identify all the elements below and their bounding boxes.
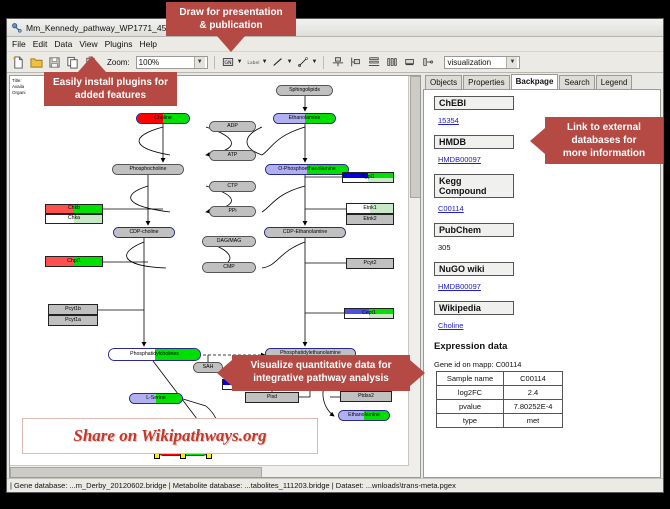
datanode-icon[interactable]: GN [221, 55, 236, 70]
node-label: CDP-choline [129, 230, 158, 235]
gene-node-pcyt1b[interactable]: Pcyt1b [48, 304, 98, 315]
metabolite-node-ethanolamine-right[interactable]: Ethanolamine [338, 410, 390, 421]
callout-plugins-line2: added features [50, 89, 171, 102]
gene-node-chka[interactable]: Chka [45, 214, 103, 224]
distribute-icon[interactable] [384, 55, 399, 70]
metabolite-node-adp[interactable]: ADP [209, 121, 256, 132]
node-label: SAH [203, 365, 214, 370]
side-panel-tabs: Objects Properties Backpage Search Legen… [423, 75, 661, 89]
node-label: PPi [228, 209, 236, 214]
node-label: L-Serine [146, 396, 166, 401]
expression-data-header: Expression data [434, 341, 652, 352]
group-icon[interactable] [402, 55, 417, 70]
menu-item-data[interactable]: Data [54, 39, 72, 49]
metabolite-node-sphingolipids[interactable]: Sphingolipids [276, 85, 333, 96]
stack-icon[interactable] [366, 55, 381, 70]
node-label: Chpt1 [67, 259, 81, 264]
node-label: O-Phosphoethanolamine [278, 167, 335, 172]
callout-draw-line2: & publication [172, 19, 290, 32]
tab-search[interactable]: Search [559, 75, 594, 89]
gene-node-ptdss2[interactable]: Ptdss2 [340, 391, 392, 402]
metabolite-node-cdp-ethanolamine[interactable]: CDP-Ethanolamine [264, 227, 346, 238]
metabolite-node-ethanolamine[interactable]: Ethanolamine [273, 113, 336, 124]
align-top-icon[interactable] [330, 55, 345, 70]
metabolite-node-dagmag[interactable]: DAG/MAG [202, 236, 256, 247]
callout-share-text: Share on Wikipathways.org [73, 426, 266, 446]
gene-id-on-mapp: Gene id on mapp: C00114 [434, 360, 652, 369]
callout-visualize-arrow-left [217, 360, 232, 386]
menu-item-file[interactable]: File [12, 39, 26, 49]
gene-node-pisd[interactable]: Pisd [245, 392, 299, 403]
expression-key: Sample name [437, 372, 504, 386]
callout-draw-line1: Draw for presentation [172, 6, 290, 19]
node-label: CDP-Ethanolamine [283, 230, 327, 235]
chevron-down-icon[interactable]: ▼ [287, 59, 293, 65]
node-label: Ethanolamine [289, 116, 321, 121]
node-label: Sphingolipids [289, 88, 320, 93]
zoom-value: 100% [139, 58, 194, 67]
pathway-drawing[interactable]: Title: Availa Organi [10, 76, 420, 477]
align-left-icon[interactable] [348, 55, 363, 70]
metabolite-node-cdp-choline[interactable]: CDP-choline [113, 227, 175, 238]
tab-properties[interactable]: Properties [463, 75, 509, 89]
callout-links-line2: databases for [551, 134, 657, 147]
svg-text:GN: GN [225, 60, 233, 66]
callout-plugins-arrow [78, 56, 106, 72]
label-tool[interactable]: Label ▼ [246, 55, 268, 70]
expression-value: met [504, 414, 563, 428]
table-row: typemet [437, 414, 563, 428]
callout-visualize-line1: Visualize quantitative data for [238, 359, 404, 372]
new-file-icon[interactable] [11, 55, 26, 70]
anchor-line-tool[interactable]: ▼ [296, 55, 318, 70]
gene-node-chpt1[interactable]: Chpt1 [45, 256, 103, 267]
gene-node-etnk1[interactable]: Etnk1 [346, 203, 394, 214]
database-link[interactable]: 15354 [438, 116, 459, 125]
node-label: ATP [228, 153, 238, 158]
scrollbar-thumb[interactable] [10, 467, 262, 478]
chevron-down-icon[interactable]: ▼ [312, 59, 318, 65]
node-label: Ethanolamine [348, 413, 380, 418]
status-bar: | Gene database: ...m_Derby_20120602.bri… [7, 478, 663, 492]
datanode-tool[interactable]: GN ▼ [221, 55, 243, 70]
menu-item-help[interactable]: Help [140, 39, 157, 49]
table-row: pvalue7.80252E-4 [437, 400, 563, 414]
database-section-pubchem: PubChem305 [434, 223, 652, 258]
gene-node-sgpl1[interactable]: Sgpl1 [342, 172, 394, 183]
database-link[interactable]: C00114 [438, 204, 464, 213]
database-name: HMDB [434, 135, 514, 149]
anchor-line-icon[interactable] [296, 55, 311, 70]
expression-key: log2FC [437, 386, 504, 400]
metabolite-node-phosphatidylcholines[interactable]: Phosphatidylcholines [108, 348, 201, 361]
metabolite-node-phosphocholine[interactable]: Phosphocholine [112, 164, 184, 175]
callout-visualize-arrow-right [410, 360, 425, 386]
toolbar-separator [214, 56, 215, 69]
callout-links: Link to external databases for more info… [545, 117, 663, 164]
menu-item-edit[interactable]: Edit [33, 39, 48, 49]
tab-objects[interactable]: Objects [425, 75, 462, 89]
database-section-kegg-compound: Kegg CompoundC00114 [434, 174, 652, 219]
gene-node-pcyt2[interactable]: Pcyt2 [346, 258, 394, 269]
database-name: NuGO wiki [434, 262, 514, 276]
gene-node-pcyt1a[interactable]: Pcyt1a [48, 315, 98, 326]
node-label: ADP [227, 124, 238, 129]
visualization-value: visualization [447, 58, 506, 67]
table-row: Sample nameC00114 [437, 372, 563, 386]
node-label: Sgpl1 [361, 175, 374, 180]
menu-bar: File Edit Data View Plugins Help [7, 37, 663, 52]
menu-item-plugins[interactable]: Plugins [105, 39, 133, 49]
database-name: PubChem [434, 223, 514, 237]
gene-node-cept1[interactable]: Cept1 [344, 308, 394, 319]
gene-node-chkb[interactable]: Chkb [45, 204, 103, 214]
chevron-down-icon[interactable]: ▼ [237, 59, 243, 65]
node-label: Phosphatidylcholines [130, 352, 179, 357]
visualization-combo[interactable]: visualization ▼ [444, 56, 520, 69]
database-name: Kegg Compound [434, 174, 514, 198]
callout-plugins-line1: Easily install plugins for [50, 76, 171, 89]
expression-data-table: Sample nameC00114log2FC2.4pvalue7.80252E… [436, 371, 563, 428]
node-label: Ptdss2 [358, 394, 374, 399]
metabolite-node-ppi[interactable]: PPi [209, 206, 256, 217]
expression-key: type [437, 414, 504, 428]
node-label: Etnk2 [363, 217, 376, 222]
node-label: CMP [223, 265, 235, 270]
title-bar: Mm_Kennedy_pathway_WP1771_45176.gpml [7, 19, 663, 37]
scrollbar-corner [409, 466, 420, 477]
metabolite-node-cmp[interactable]: CMP [202, 262, 256, 273]
gene-node-etnk2[interactable]: Etnk2 [346, 214, 394, 225]
node-label: Chka [68, 216, 80, 221]
node-label: Pisd [267, 395, 277, 400]
label-icon[interactable]: Label [246, 55, 261, 70]
node-label: Pcyt1b [65, 307, 81, 312]
database-value: 305 [438, 243, 451, 252]
callout-links-line3: more information [551, 147, 657, 160]
chevron-down-icon[interactable]: ▼ [194, 57, 205, 68]
database-link[interactable]: HMDB00097 [438, 282, 481, 291]
chevron-down-icon[interactable]: ▼ [506, 57, 517, 68]
metabolite-node-atp[interactable]: ATP [209, 150, 256, 161]
line-tool[interactable]: ▼ [271, 55, 293, 70]
zoom-label: Zoom: [107, 58, 130, 67]
node-label: Chkb [68, 206, 80, 211]
tab-backpage[interactable]: Backpage [511, 74, 559, 89]
metabolite-node-choline[interactable]: Choline [136, 113, 190, 124]
callout-links-arrow [530, 128, 545, 154]
tab-legend[interactable]: Legend [596, 75, 633, 89]
callout-visualize-line2: integrative pathway analysis [238, 372, 404, 385]
zoom-combo[interactable]: 100% ▼ [136, 56, 208, 69]
callout-links-line1: Link to external [551, 121, 657, 134]
node-label: DAG/MAG [217, 239, 242, 244]
node-label: Etnk1 [363, 206, 376, 211]
node-label: CTP [227, 184, 237, 189]
toolbar-separator [323, 56, 324, 69]
callout-draw: Draw for presentation & publication [166, 2, 296, 36]
callout-share: Share on Wikipathways.org [22, 418, 318, 454]
database-name: ChEBI [434, 96, 514, 110]
status-text: | Gene database: ...m_Derby_20120602.bri… [10, 481, 456, 490]
canvas-vertical-scrollbar[interactable] [408, 76, 420, 466]
database-name: Wikipedia [434, 301, 514, 315]
callout-visualize: Visualize quantitative data for integrat… [232, 355, 410, 391]
scrollbar-thumb[interactable] [410, 76, 421, 198]
database-link[interactable]: Choline [438, 321, 463, 330]
node-label: Pcyt1a [65, 318, 81, 323]
node-label: Pcyt2 [364, 261, 377, 266]
line-icon[interactable] [271, 55, 286, 70]
node-label: Choline [154, 116, 172, 121]
pathvisio-app-icon [11, 22, 22, 33]
database-link[interactable]: HMDB00097 [438, 155, 481, 164]
node-label: Phosphocholine [130, 167, 167, 172]
metabolite-node-o-phosphoethanolamine[interactable]: O-Phosphoethanolamine [265, 164, 349, 175]
menu-item-view[interactable]: View [79, 39, 97, 49]
open-folder-icon[interactable] [29, 55, 44, 70]
metabolite-node-ctp[interactable]: CTP [209, 181, 256, 192]
table-row: log2FC2.4 [437, 386, 563, 400]
expression-key: pvalue [437, 400, 504, 414]
database-section-nugo-wiki: NuGO wikiHMDB00097 [434, 262, 652, 297]
metabolite-node-l-serine-left[interactable]: L-Serine [129, 393, 183, 404]
order-icon[interactable] [420, 55, 435, 70]
expression-value: 7.80252E-4 [504, 400, 563, 414]
chevron-down-icon[interactable]: ▼ [262, 59, 268, 65]
node-label: Cept1 [362, 311, 376, 316]
save-icon[interactable] [47, 55, 62, 70]
database-section-wikipedia: WikipediaCholine [434, 301, 652, 336]
canvas-horizontal-scrollbar[interactable] [10, 465, 409, 477]
svg-text:Label: Label [247, 60, 259, 66]
callout-draw-arrow [217, 36, 245, 52]
expression-value: C00114 [504, 372, 563, 386]
callout-plugins: Easily install plugins for added feature… [44, 72, 177, 106]
expression-value: 2.4 [504, 386, 563, 400]
